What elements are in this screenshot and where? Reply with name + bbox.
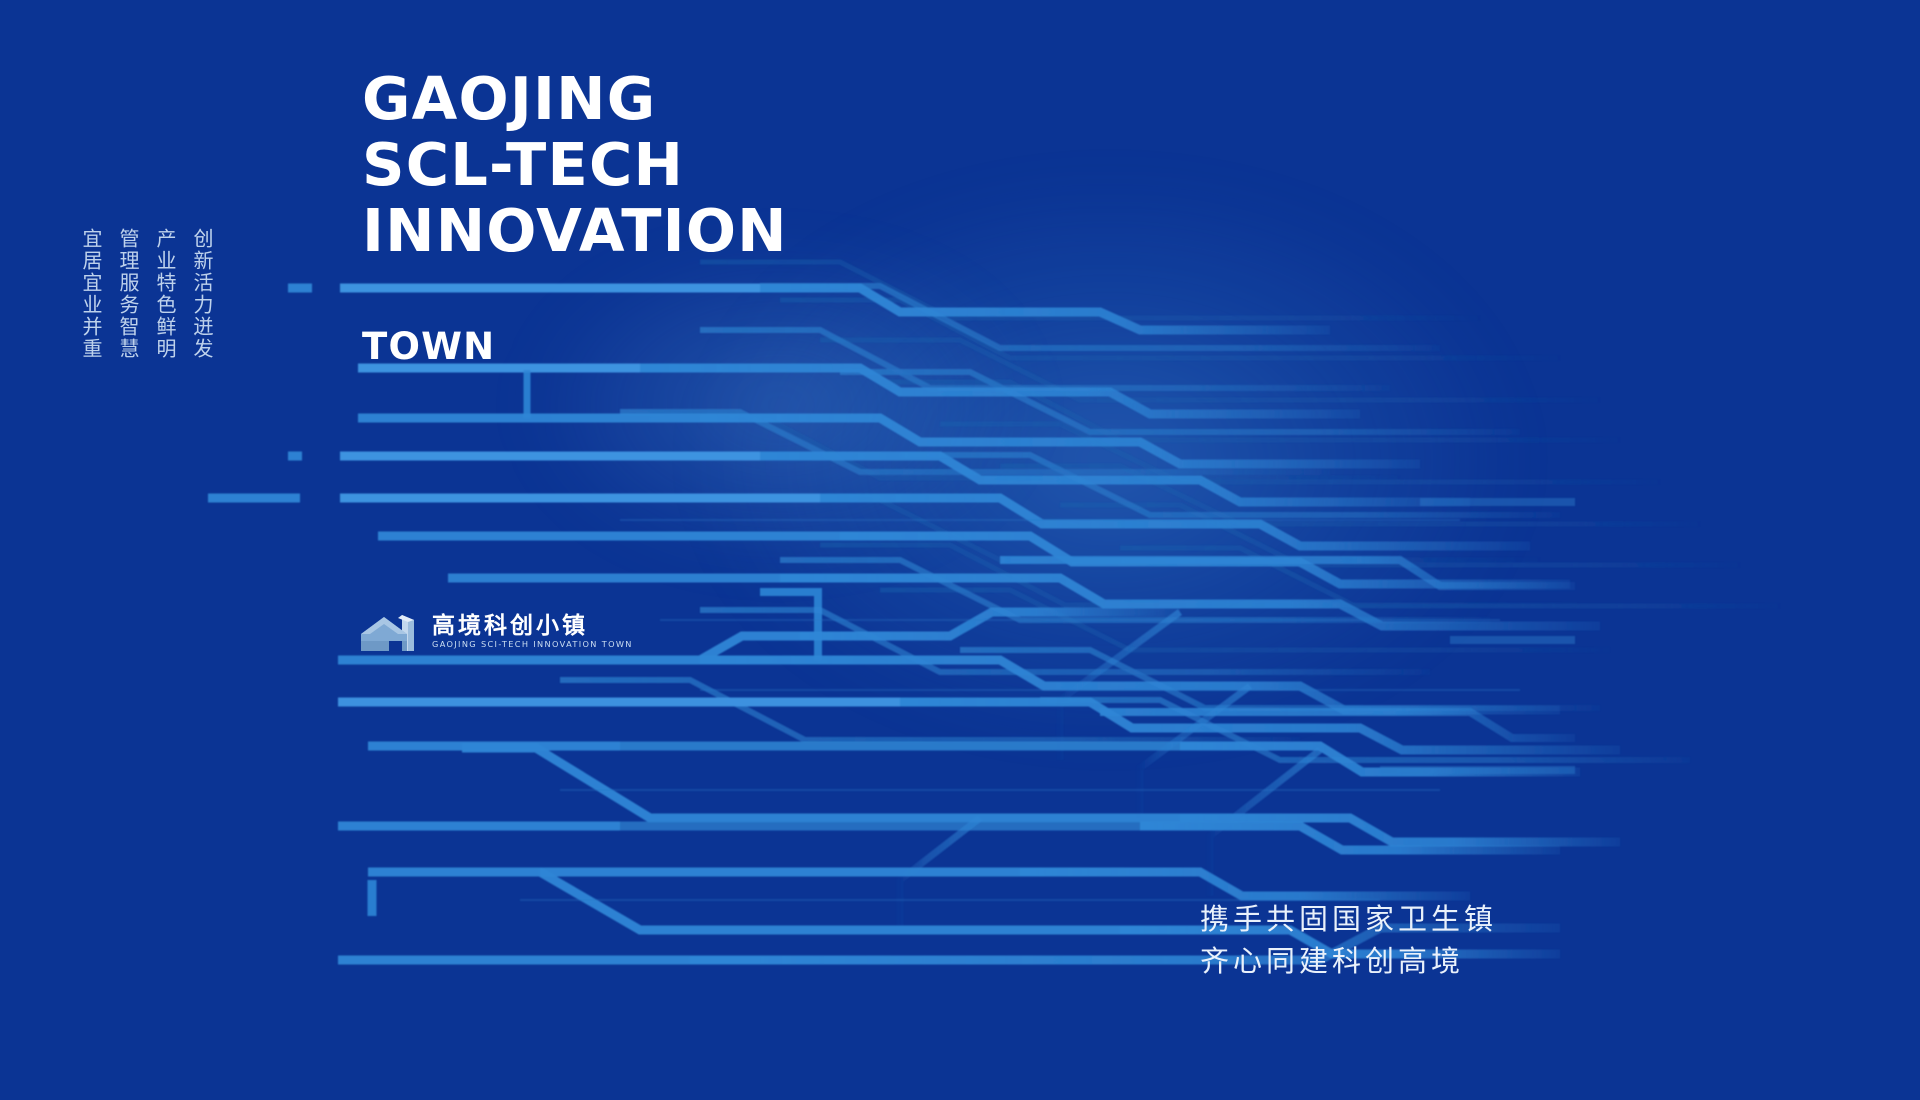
headline-line-3: INNOVATION [362,198,788,264]
headline-town-word: TOWN [362,325,495,368]
house-building-icon [358,607,420,657]
logo-chinese-name: 高境科创小镇 [432,615,633,638]
headline-line-1: GAOJING [362,66,788,132]
vertical-slogan-column-4: 宜居宜业并重 [78,228,104,360]
bottom-slogan-line-1: 携手共固国家卫生镇 [1200,898,1497,940]
bottom-slogan: 携手共固国家卫生镇 齐心同建科创高境 [1200,898,1497,982]
logo: 高境科创小镇 GAOJING SCI-TECH INNOVATION TOWN [358,607,633,657]
circuit-trace-artwork [0,0,1920,1100]
headline-line-2: SCL-TECH [362,132,788,198]
page-title: GAOJING SCL-TECH INNOVATION [362,66,788,264]
poster-canvas: 创新活力迸发 产业特色鲜明 管理服务智慧 宜居宜业并重 GAOJING SCL-… [0,0,1920,1100]
vertical-slogan-column-3: 管理服务智慧 [115,228,141,360]
logo-text-block: 高境科创小镇 GAOJING SCI-TECH INNOVATION TOWN [432,615,633,648]
vertical-slogan-column-2: 产业特色鲜明 [152,228,178,360]
background-glow-secondary [520,240,1040,570]
background-glow-main [700,180,1520,740]
vertical-slogan-column-1: 创新活力迸发 [189,228,215,360]
logo-english-name: GAOJING SCI-TECH INNOVATION TOWN [432,640,633,648]
vertical-slogan: 创新活力迸发 产业特色鲜明 管理服务智慧 宜居宜业并重 [78,228,215,360]
bottom-slogan-line-2: 齐心同建科创高境 [1200,940,1497,982]
